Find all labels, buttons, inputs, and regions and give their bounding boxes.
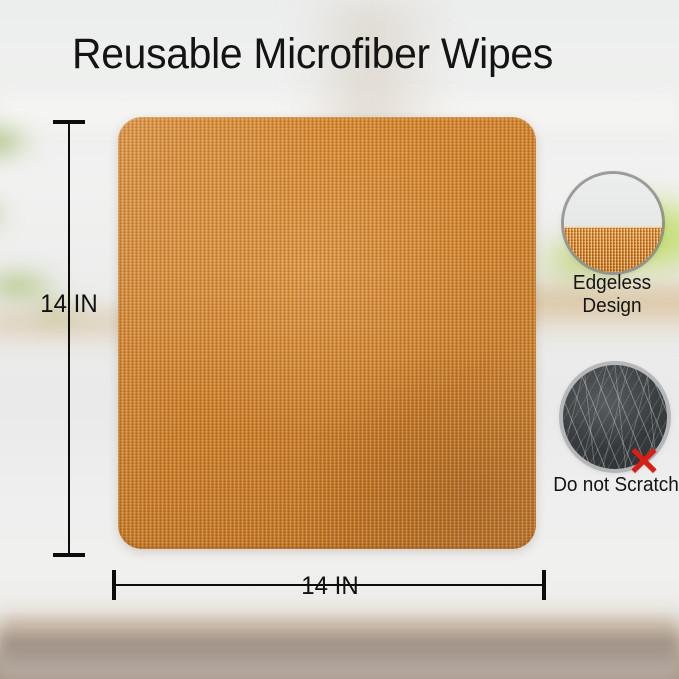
height-dimension-cap-bottom [53, 553, 85, 557]
background-countertop [0, 634, 679, 679]
height-dimension-label: 14 IN [35, 289, 102, 319]
edgeless-design-swatch-icon [564, 174, 662, 272]
do-not-scratch-label: Do not Scratch [553, 474, 675, 497]
edgeless-design-label-line1: Edgeless [551, 272, 673, 295]
width-dimension-cap-right [542, 570, 546, 600]
microfiber-cloth [118, 117, 536, 549]
edgeless-fiber-texture [564, 228, 662, 272]
width-dimension-label: 14 IN [291, 571, 370, 601]
cloth-sheen [118, 117, 536, 549]
height-dimension-line [68, 122, 70, 556]
edgeless-design-label: Edgeless Design [551, 272, 673, 318]
page-title: Reusable Microfiber Wipes [72, 29, 553, 79]
product-infographic: Reusable Microfiber Wipes 14 IN 14 IN Ed… [0, 0, 679, 679]
edgeless-design-label-line2: Design [551, 295, 673, 318]
